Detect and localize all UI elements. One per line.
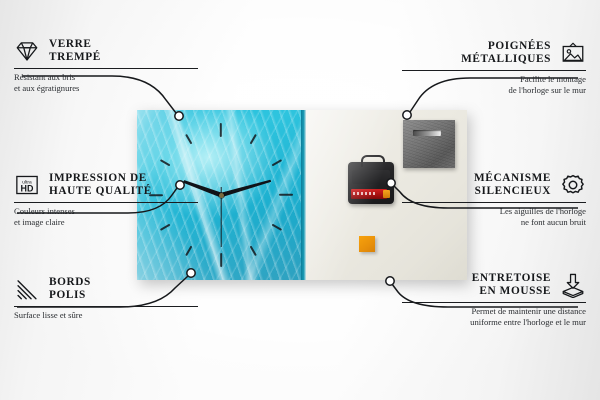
feature-verre-trempe: VERRE TREMPÉ Résistant aux bris et aux é… bbox=[14, 38, 229, 94]
divider bbox=[402, 302, 586, 303]
feature-mecanisme-silencieux: MÉCANISME SILENCIEUX Les aiguilles de l'… bbox=[371, 172, 586, 228]
feature-title: BORDS POLIS bbox=[49, 276, 91, 303]
connector-endpoint bbox=[175, 112, 183, 120]
feature-title: VERRE TREMPÉ bbox=[49, 38, 101, 65]
feature-header: ultra HD IMPRESSION DE HAUTE QUALITÉ bbox=[14, 172, 229, 199]
feature-header: POIGNÉES MÉTALLIQUES bbox=[371, 40, 586, 67]
divider bbox=[14, 202, 198, 203]
feature-impression-haute-qualite: ultra HD IMPRESSION DE HAUTE QUALITÉ Cou… bbox=[14, 172, 229, 228]
feature-title: IMPRESSION DE HAUTE QUALITÉ bbox=[49, 172, 152, 199]
feature-title: ENTRETOISE EN MOUSSE bbox=[472, 272, 551, 299]
feature-header: ENTRETOISE EN MOUSSE bbox=[371, 272, 586, 299]
feature-title: POIGNÉES MÉTALLIQUES bbox=[461, 40, 551, 67]
feature-entretoise-en-mousse: ENTRETOISE EN MOUSSE Permet de maintenir… bbox=[371, 272, 586, 328]
feature-subtitle: Facilite le montage de l'horloge sur le … bbox=[371, 74, 586, 96]
ultra-hd-icon-main: HD bbox=[21, 184, 34, 194]
divider bbox=[402, 202, 586, 203]
diamond-icon bbox=[14, 38, 40, 64]
gear-icon bbox=[560, 172, 586, 198]
feature-title: MÉCANISME SILENCIEUX bbox=[474, 172, 551, 199]
divider bbox=[14, 306, 198, 307]
feature-subtitle: Permet de maintenir une distance uniform… bbox=[371, 306, 586, 328]
connector-endpoint bbox=[403, 111, 411, 119]
arrow-into-foam-icon bbox=[560, 272, 586, 298]
polished-edge-icon bbox=[14, 276, 40, 302]
divider bbox=[402, 70, 586, 71]
feature-subtitle: Les aiguilles de l'horloge ne font aucun… bbox=[371, 206, 586, 228]
feature-subtitle: Couleurs intenses et image claire bbox=[14, 206, 229, 228]
feature-header: MÉCANISME SILENCIEUX bbox=[371, 172, 586, 199]
feature-subtitle: Surface lisse et sûre bbox=[14, 310, 229, 321]
feature-bords-polis: BORDS POLIS Surface lisse et sûre bbox=[14, 276, 229, 321]
feature-header: BORDS POLIS bbox=[14, 276, 229, 303]
picture-frame-hanger-icon bbox=[560, 40, 586, 66]
infographic-canvas: VERRE TREMPÉ Résistant aux bris et aux é… bbox=[0, 0, 600, 400]
divider bbox=[14, 68, 198, 69]
feature-poignees-metalliques: POIGNÉES MÉTALLIQUES Facilite le montage… bbox=[371, 40, 586, 96]
ultra-hd-icon: ultra HD bbox=[14, 172, 40, 198]
feature-header: VERRE TREMPÉ bbox=[14, 38, 229, 65]
feature-subtitle: Résistant aux bris et aux égratignures bbox=[14, 72, 229, 94]
